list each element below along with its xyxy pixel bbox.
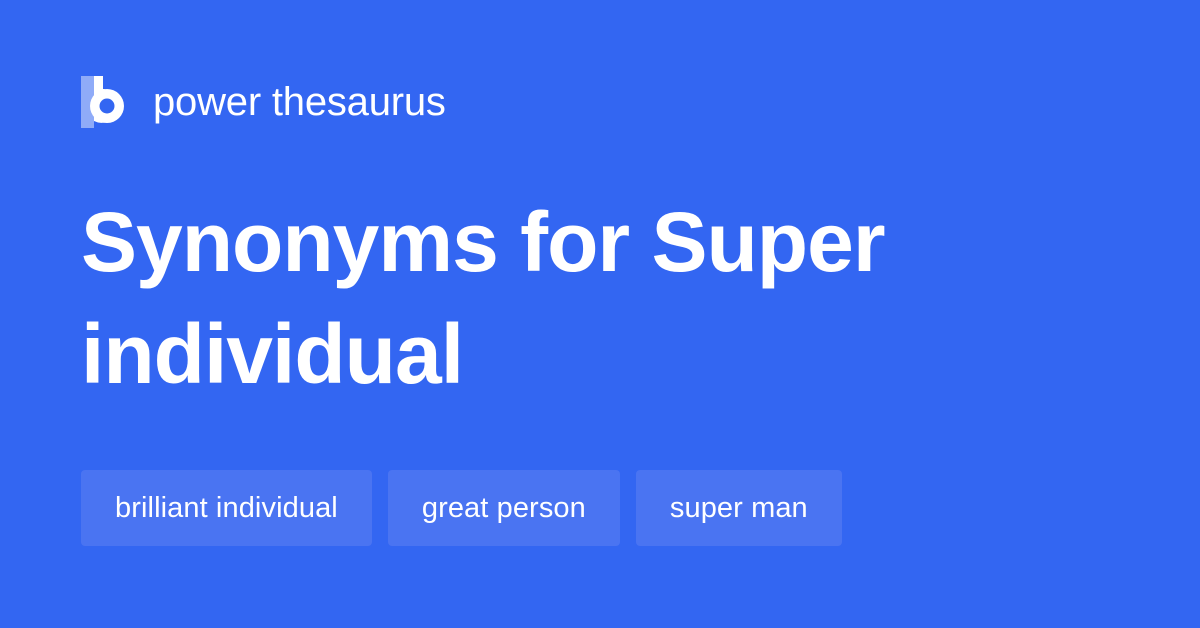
brand-header[interactable]: power thesaurus <box>81 72 446 132</box>
synonym-chip[interactable]: great person <box>388 470 620 546</box>
synonym-chip[interactable]: brilliant individual <box>81 470 372 546</box>
power-thesaurus-logo-icon <box>81 76 127 128</box>
page-title-line-2: individual <box>81 298 1081 410</box>
page-title-line-1: Synonyms for Super <box>81 186 1081 298</box>
brand-name: power thesaurus <box>153 82 446 122</box>
og-share-card: power thesaurus Synonyms for Super indiv… <box>0 0 1200 628</box>
page-title: Synonyms for Super individual <box>81 186 1081 410</box>
synonym-chip[interactable]: super man <box>636 470 842 546</box>
synonym-chip-list: brilliant individual great person super … <box>81 470 842 546</box>
